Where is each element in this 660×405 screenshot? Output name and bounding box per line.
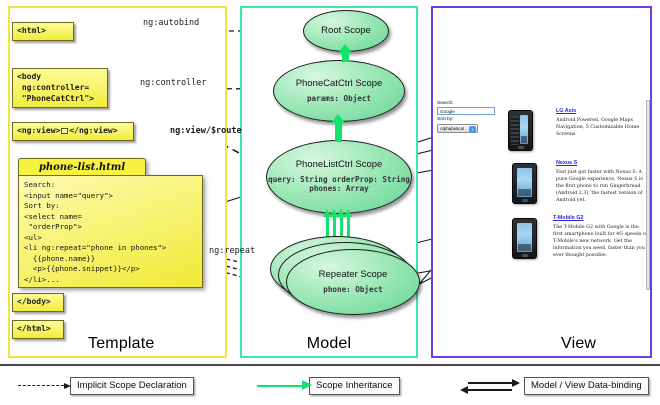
inheritance-arrow-catctrl — [335, 122, 342, 142]
panel-view-label: View — [433, 335, 650, 353]
template-tag-body-open: <body ng:controller= "PhoneCatCtrl"> — [12, 68, 108, 108]
connector-label-autobind: ng:autobind — [143, 18, 199, 28]
inheritance-arrows-repeater — [326, 214, 352, 238]
scope-phonecatctrl: PhoneCatCtrl Scope params: Object — [273, 60, 405, 122]
solid-arrow-icon — [257, 385, 303, 388]
ngview-open-tag: <ng:view> — [17, 126, 60, 135]
legend-item-implicit-scope-declaration: Implicit Scope Declaration — [18, 377, 194, 395]
scope-phonelistctrl: PhoneListCtrl Scope query: String orderP… — [266, 140, 412, 214]
legend-item-scope-inheritance: Scope Inheritance — [257, 377, 400, 395]
view-search-widget: Search: Google Sort by: Alphabetical ↕ — [437, 100, 501, 133]
phone-thumbnail-t-mobile-g2 — [512, 218, 537, 259]
phone-list-item: LG Axis Android Powered, Google Maps Nav… — [556, 108, 652, 139]
panel-model-label: Model — [242, 335, 416, 353]
template-file-card: phone-list.html Search: <input name="que… — [18, 158, 203, 288]
diagram-canvas: Template <html> <body ng:controller= "Ph… — [0, 0, 660, 405]
phone-thumbnail-nexus-s — [512, 163, 537, 204]
connector-label-route: ng:view/$route — [170, 126, 242, 136]
template-tag-html-close: </html> — [12, 320, 64, 339]
dashed-arrow-icon — [18, 385, 64, 386]
phone-list-item: Nexus S Fast just got faster with Nexus … — [556, 160, 652, 205]
scope-root-name: Root Scope — [321, 26, 371, 37]
scope-repeater-props: phone: Object — [323, 285, 382, 295]
legend-label: Scope Inheritance — [309, 377, 400, 395]
scope-phonecatctrl-props: params: Object — [307, 94, 371, 104]
legend-divider — [0, 364, 660, 366]
phone-snippet: Fast just got faster with Nexus S. A pur… — [556, 170, 652, 205]
scope-phonelistctrl-props: query: String orderProp: String phones: … — [267, 175, 411, 195]
ngview-placeholder-icon — [61, 128, 68, 134]
phone-name-link[interactable]: T-Mobile G2 — [553, 215, 649, 223]
legend: Implicit Scope Declaration Scope Inherit… — [0, 364, 660, 405]
file-name-label: phone-list.html — [18, 158, 146, 176]
inheritance-arrow-root — [342, 52, 349, 62]
phone-snippet: The T-Mobile G2 with Google is the first… — [553, 225, 649, 260]
template-tag-html-open: <html> — [12, 22, 74, 41]
template-tag-ngview: <ng:view></ng:view> — [12, 122, 134, 141]
scope-phonelistctrl-name: PhoneListCtrl Scope — [296, 160, 383, 171]
file-code-block: Search: <input name="query"> Sort by: <s… — [18, 175, 203, 288]
sort-label: Sort by: — [437, 116, 501, 123]
search-label: Search: — [437, 100, 501, 107]
search-input[interactable]: Google — [437, 107, 495, 115]
scope-repeater-name: Repeater Scope — [319, 270, 388, 281]
phone-name-link[interactable]: LG Axis — [556, 108, 652, 116]
scope-repeater: Repeater Scope phone: Object — [286, 249, 420, 315]
phone-name-link[interactable]: Nexus S — [556, 160, 652, 168]
chevron-updown-icon: ↕ — [469, 126, 476, 133]
phone-snippet: Android Powered, Google Maps Navigation,… — [556, 118, 652, 139]
legend-item-data-binding: Model / View Data-binding — [468, 377, 649, 395]
sort-select[interactable]: Alphabetical ↕ — [437, 124, 478, 133]
connector-label-controller: ng:controller — [140, 78, 207, 88]
phone-thumbnail-lg-axis — [508, 110, 533, 151]
connector-label-repeat: ng:repeat — [209, 246, 255, 256]
double-arrow-icon — [468, 379, 518, 393]
ngview-close-tag: </ng:view> — [69, 126, 117, 135]
scope-phonecatctrl-name: PhoneCatCtrl Scope — [296, 79, 383, 90]
view-scrollbar[interactable] — [646, 100, 650, 290]
sort-select-value: Alphabetical — [440, 126, 464, 131]
template-tag-body-close: </body> — [12, 293, 64, 312]
phone-list-item: T-Mobile G2 The T-Mobile G2 with Google … — [553, 215, 649, 260]
legend-label: Model / View Data-binding — [524, 377, 649, 395]
legend-label: Implicit Scope Declaration — [70, 377, 194, 395]
